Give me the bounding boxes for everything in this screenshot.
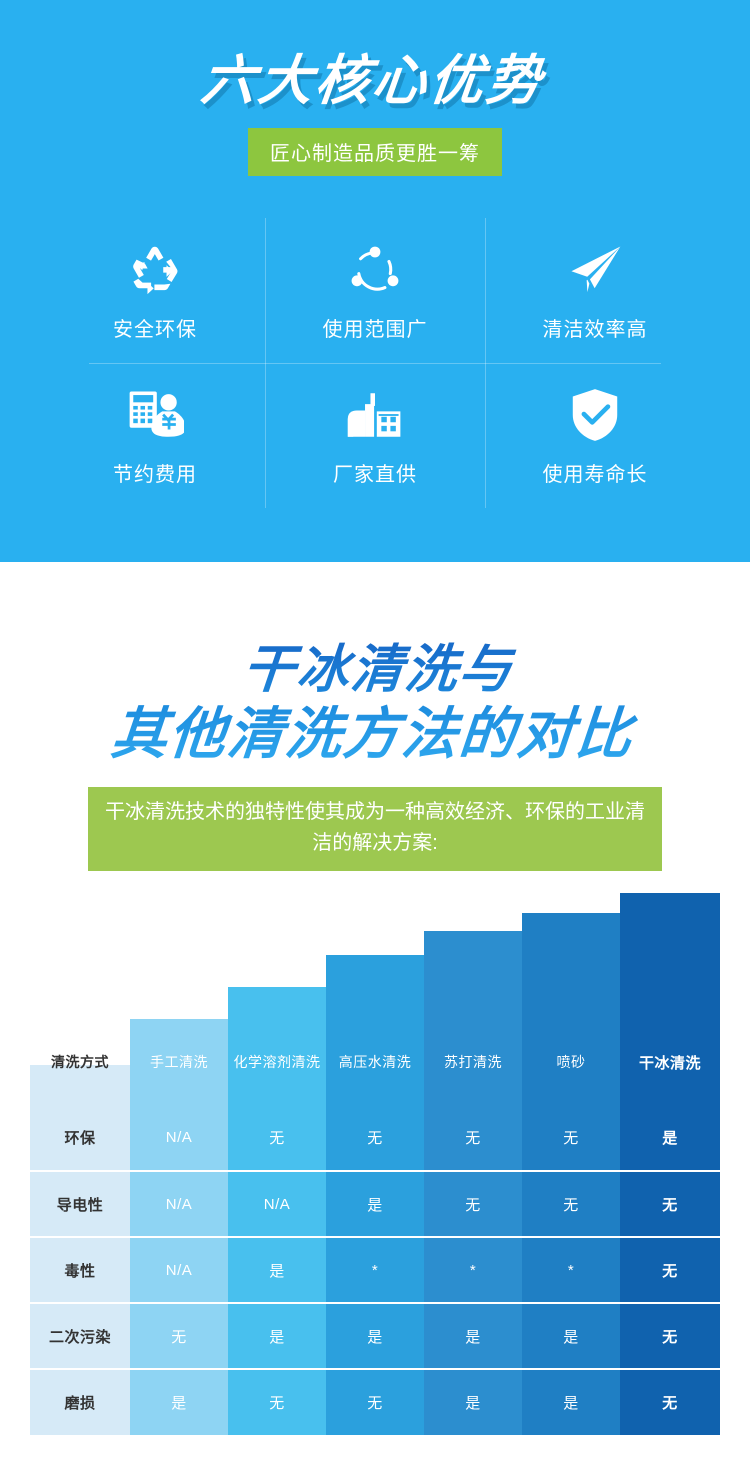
advantage-item-3[interactable]: 清洁效率高 xyxy=(485,218,705,363)
shield-check-icon xyxy=(570,384,620,446)
bar-label: 手工清洗 xyxy=(130,1019,228,1105)
bar-label: 干冰清洗 xyxy=(620,1019,720,1105)
advantage-item-5[interactable]: 厂家直供 xyxy=(265,363,485,508)
advantages-title: 六大核心优势 xyxy=(0,0,750,112)
table-cell: 无 xyxy=(522,1105,620,1171)
comparison-section: 干冰清洗与 其他清洗方法的对比 干冰清洗技术的独特性使其成为一种高效经济、环保的… xyxy=(0,562,750,1435)
advantage-item-1[interactable]: 安全环保 xyxy=(45,218,265,363)
table-cell: 是 xyxy=(130,1369,228,1435)
infographic-page: 六大核心优势 匠心制造品质更胜一筹 xyxy=(0,0,750,1463)
comparison-table: 环保N/A无无无无是导电性N/AN/A是无无无毒性N/A是***无二次污染无是是… xyxy=(30,1105,720,1435)
calculator-money-icon xyxy=(126,384,184,446)
advantages-row-1: 安全环保 使用范围广 xyxy=(45,218,705,363)
table-cell: 无 xyxy=(326,1369,424,1435)
row-header: 环保 xyxy=(30,1105,130,1171)
table-cell: * xyxy=(522,1237,620,1303)
bar-column-7: 干冰清洗 xyxy=(620,893,720,1105)
paper-plane-icon xyxy=(566,239,624,301)
bar-label: 喷砂 xyxy=(522,1019,620,1105)
table-row: 毒性N/A是***无 xyxy=(30,1237,720,1303)
table-cell: 无 xyxy=(228,1105,326,1171)
bar-label: 苏打清洗 xyxy=(424,1019,522,1105)
table-cell: 无 xyxy=(424,1171,522,1237)
advantages-grid: 安全环保 使用范围广 xyxy=(45,218,705,508)
table-cell: 无 xyxy=(424,1105,522,1171)
staircase-bars: 清洗方式手工清洗化学溶剂清洗高压水清洗苏打清洗喷砂干冰清洗 xyxy=(30,893,720,1105)
advantage-label-5: 厂家直供 xyxy=(333,458,417,487)
table-row: 二次污染无是是是是无 xyxy=(30,1303,720,1369)
bar-column-4: 高压水清洗 xyxy=(326,955,424,1105)
bar-column-3: 化学溶剂清洗 xyxy=(228,987,326,1105)
table-cell: 无 xyxy=(130,1303,228,1369)
share-network-icon xyxy=(348,239,402,301)
table-cell: 无 xyxy=(228,1369,326,1435)
advantage-item-4[interactable]: 节约费用 xyxy=(45,363,265,508)
advantage-label-1: 安全环保 xyxy=(113,313,197,342)
table-cell: N/A xyxy=(130,1171,228,1237)
advantage-label-2: 使用范围广 xyxy=(323,313,428,342)
table-row: 导电性N/AN/A是无无无 xyxy=(30,1171,720,1237)
table-row: 环保N/A无无无无是 xyxy=(30,1105,720,1171)
table-cell: * xyxy=(326,1237,424,1303)
table-cell: 是 xyxy=(522,1303,620,1369)
row-header: 磨损 xyxy=(30,1369,130,1435)
table-cell: 是 xyxy=(228,1237,326,1303)
bar-column-6: 喷砂 xyxy=(522,913,620,1105)
comparison-title-line2: 其他清洗方法的对比 xyxy=(0,701,750,767)
bar-label: 化学溶剂清洗 xyxy=(228,1019,326,1105)
bar-label: 清洗方式 xyxy=(30,1019,130,1105)
table-cell: 无 xyxy=(522,1171,620,1237)
advantages-subtitle-wrap: 匠心制造品质更胜一筹 xyxy=(0,128,750,176)
bar-column-2: 手工清洗 xyxy=(130,1019,228,1105)
comparison-subtitle-badge: 干冰清洗技术的独特性使其成为一种高效经济、环保的工业清洁的解决方案: xyxy=(88,787,662,871)
table-cell: 是 xyxy=(522,1369,620,1435)
table-cell: N/A xyxy=(228,1171,326,1237)
table-row: 磨损是无无是是无 xyxy=(30,1369,720,1435)
factory-icon xyxy=(346,384,404,446)
advantages-subtitle-badge: 匠心制造品质更胜一筹 xyxy=(248,128,502,176)
bar-column-5: 苏打清洗 xyxy=(424,931,522,1105)
comparison-subtitle-wrap: 干冰清洗技术的独特性使其成为一种高效经济、环保的工业清洁的解决方案: xyxy=(0,787,750,871)
advantages-section: 六大核心优势 匠心制造品质更胜一筹 xyxy=(0,0,750,562)
table-cell: 是 xyxy=(424,1369,522,1435)
advantage-item-2[interactable]: 使用范围广 xyxy=(265,218,485,363)
advantage-label-4: 节约费用 xyxy=(113,458,197,487)
advantage-label-6: 使用寿命长 xyxy=(543,458,648,487)
row-header: 二次污染 xyxy=(30,1303,130,1369)
table-cell: 是 xyxy=(326,1171,424,1237)
recycle-icon xyxy=(127,239,183,301)
table-cell: 无 xyxy=(326,1105,424,1171)
table-cell: 是 xyxy=(326,1303,424,1369)
table-cell: 无 xyxy=(620,1369,720,1435)
advantage-item-6[interactable]: 使用寿命长 xyxy=(485,363,705,508)
table-cell: 是 xyxy=(620,1105,720,1171)
advantages-row-2: 节约费用 xyxy=(45,363,705,508)
table-cell: 无 xyxy=(620,1237,720,1303)
table-cell: N/A xyxy=(130,1237,228,1303)
grid-divider-horizontal xyxy=(89,363,661,364)
comparison-title: 干冰清洗与 其他清洗方法的对比 xyxy=(0,640,750,767)
table-cell: 是 xyxy=(424,1303,522,1369)
table-cell: 是 xyxy=(228,1303,326,1369)
bar-column-1: 清洗方式 xyxy=(30,1065,130,1105)
comparison-chart: 清洗方式手工清洗化学溶剂清洗高压水清洗苏打清洗喷砂干冰清洗 环保N/A无无无无是… xyxy=(30,893,720,1435)
bar-label: 高压水清洗 xyxy=(326,1019,424,1105)
table-cell: 无 xyxy=(620,1171,720,1237)
comparison-title-line1: 干冰清洗与 xyxy=(240,641,515,699)
table-cell: N/A xyxy=(130,1105,228,1171)
table-cell: * xyxy=(424,1237,522,1303)
row-header: 导电性 xyxy=(30,1171,130,1237)
row-header: 毒性 xyxy=(30,1237,130,1303)
advantage-label-3: 清洁效率高 xyxy=(543,313,648,342)
table-cell: 无 xyxy=(620,1303,720,1369)
